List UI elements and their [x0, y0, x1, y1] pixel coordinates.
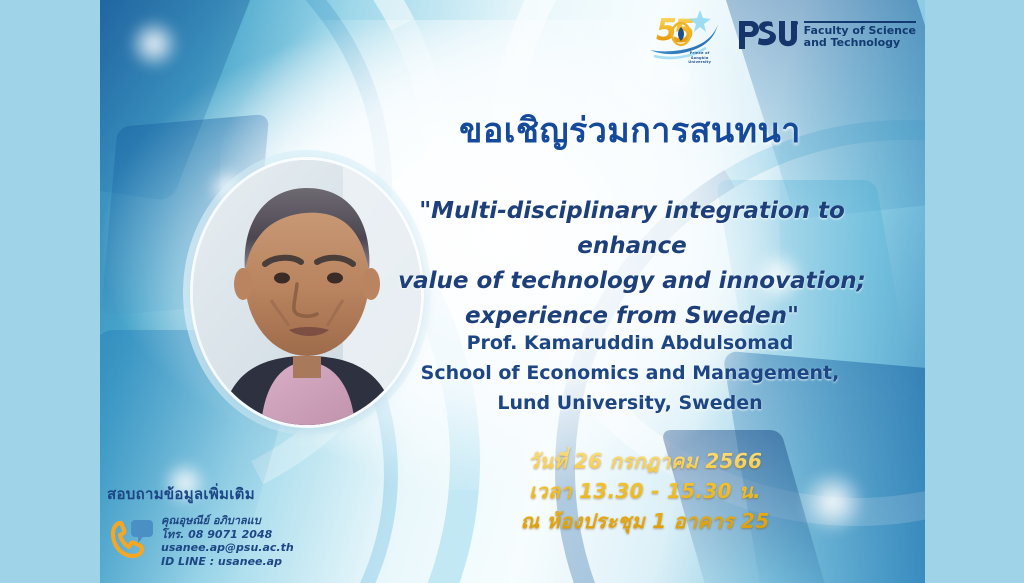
contact-email: usanee.ap@psu.ac.th: [161, 541, 294, 555]
event-venue: ณ ห้องประชุม 1 อาคาร 25: [430, 506, 860, 536]
page-title: ขอเชิญร่วมการสนทนา: [420, 103, 840, 157]
contact-line-id: ID LINE : usanee.ap: [161, 555, 294, 569]
talk-title-line-1: "Multi-disciplinary integration to enhan…: [372, 194, 892, 264]
event-poster: 5 5 Prince of Songkla University: [0, 0, 1024, 583]
anniversary-55-logo: 5 5 Prince of Songkla University: [644, 6, 722, 64]
event-date: วันที่ 26 กรกฎาคม 2566: [430, 446, 860, 476]
speaker-name: Prof. Kamaruddin Abdulsomad: [400, 328, 860, 358]
event-details: วันที่ 26 กรกฎาคม 2566 เวลา 13.30 - 15.3…: [430, 446, 860, 536]
left-border: [0, 0, 100, 583]
contact-lines: คุณอุษณีย์ อภิบาลแบ โทร. 08 9071 2048 us…: [161, 512, 294, 568]
talk-title-line-2: value of technology and innovation;: [372, 264, 892, 299]
right-border: [925, 0, 1024, 583]
psu-wordmark-icon: [736, 15, 798, 55]
anniversary-university-text: Prince of Songkla University: [680, 51, 720, 65]
poster-content: 5 5 Prince of Songkla University: [0, 0, 1024, 583]
speaker-affiliation-2: Lund University, Sweden: [400, 388, 860, 418]
event-time: เวลา 13.30 - 15.30 น.: [430, 476, 860, 506]
phone-handset-icon: [107, 514, 155, 562]
contact-block: สอบถามข้อมูลเพิ่มเติม คุณอุษณีย์ อภิบาลแ…: [107, 482, 294, 568]
logo-bar: 5 5 Prince of Songkla University: [644, 6, 916, 64]
speaker-affiliation-1: School of Economics and Management,: [400, 358, 860, 388]
contact-body: คุณอุษณีย์ อภิบาลแบ โทร. 08 9071 2048 us…: [107, 512, 294, 568]
psu-faculty-text: Faculty of Science and Technology: [804, 21, 916, 50]
contact-phone: โทร. 08 9071 2048: [161, 528, 294, 542]
contact-name: คุณอุษณีย์ อภิบาลแบ: [161, 514, 294, 528]
talk-title: "Multi-disciplinary integration to enhan…: [372, 194, 892, 334]
contact-heading: สอบถามข้อมูลเพิ่มเติม: [107, 482, 294, 506]
speaker-info: Prof. Kamaruddin Abdulsomad School of Ec…: [400, 328, 860, 418]
faculty-line-2: and Technology: [804, 37, 916, 50]
psu-faculty-logo: Faculty of Science and Technology: [736, 15, 916, 55]
